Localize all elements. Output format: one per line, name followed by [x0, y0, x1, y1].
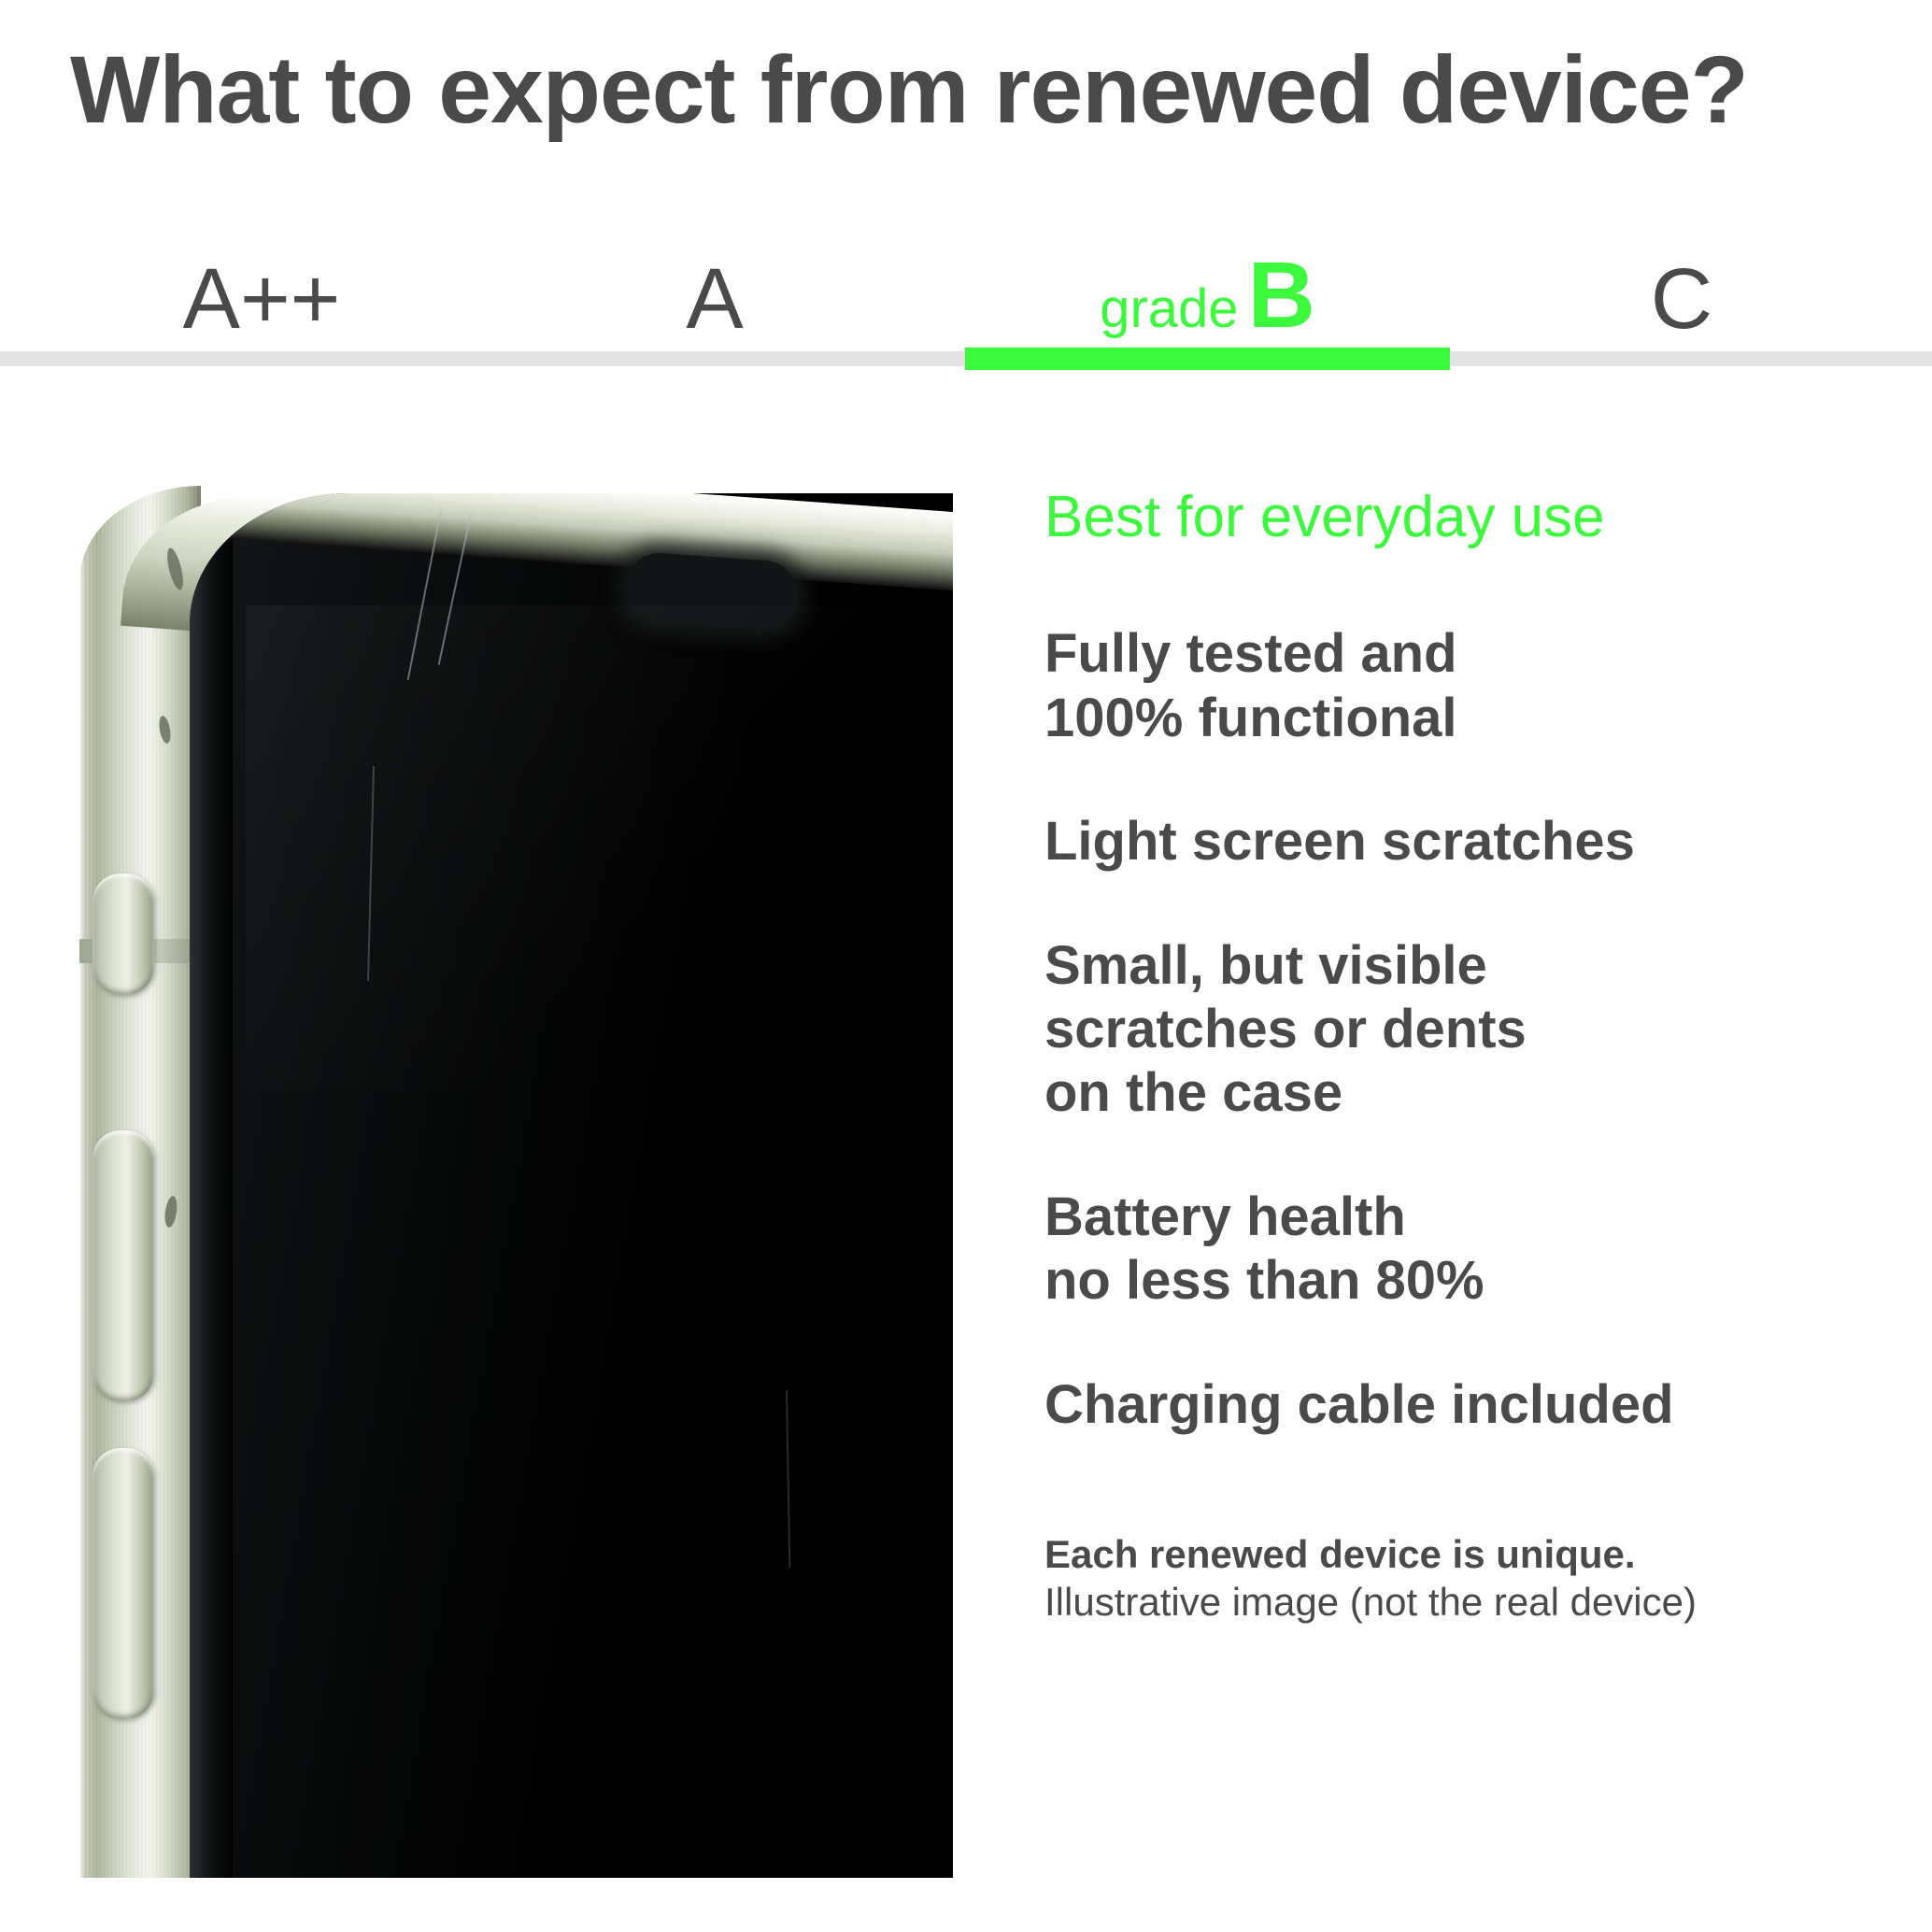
screen-reflection [246, 605, 953, 1091]
tab-grade-b[interactable]: gradeB [965, 213, 1450, 362]
screen-scratch [367, 766, 375, 981]
dynamic-island [623, 551, 801, 632]
tab-grade-a-label: A [686, 256, 743, 342]
screen-top-edge [190, 493, 953, 601]
feature-item: Fully tested and 100% functional [1044, 622, 1885, 750]
tab-grade-c[interactable]: C [1495, 213, 1868, 362]
grade-tabs: A++ A gradeB C [0, 213, 1932, 362]
tab-grade-b-label: gradeB [1100, 249, 1315, 342]
device-illustration [79, 486, 953, 1878]
tab-grade-a[interactable]: A [509, 213, 920, 362]
action-button [92, 874, 154, 995]
renewed-device-grade-panel: What to expect from renewed device? A++ … [0, 0, 1932, 1932]
feature-item: Light screen scratches [1044, 810, 1885, 874]
tab-grade-a-plus-plus[interactable]: A++ [56, 213, 467, 362]
volume-up-button [92, 1130, 154, 1401]
disclaimer: Each renewed device is unique. Illustrat… [1044, 1530, 1885, 1626]
volume-down-button [92, 1448, 154, 1719]
feature-item: Charging cable included [1044, 1373, 1885, 1437]
tab-grade-b-letter: B [1248, 249, 1315, 342]
disclaimer-uniqueness: Each renewed device is unique. [1044, 1530, 1885, 1578]
tab-active-indicator [965, 348, 1450, 370]
tab-grade-c-label: C [1651, 256, 1712, 342]
feature-list: Fully tested and 100% functional Light s… [1044, 622, 1885, 1437]
grade-details: Best for everyday use Fully tested and 1… [1044, 486, 1885, 1627]
device-screen [190, 493, 953, 1878]
grade-tagline: Best for everyday use [1044, 486, 1885, 549]
feature-item: Small, but visible scratches or dents on… [1044, 934, 1885, 1126]
tab-grade-b-prefix: grade [1100, 282, 1238, 336]
disclaimer-illustrative: Illustrative image (not the real device) [1044, 1578, 1885, 1626]
screen-scratch [786, 1390, 790, 1568]
page-title: What to expect from renewed device? [70, 36, 1748, 145]
feature-item: Battery health no less than 80% [1044, 1186, 1885, 1314]
tab-grade-a-plus-plus-label: A++ [183, 256, 341, 342]
